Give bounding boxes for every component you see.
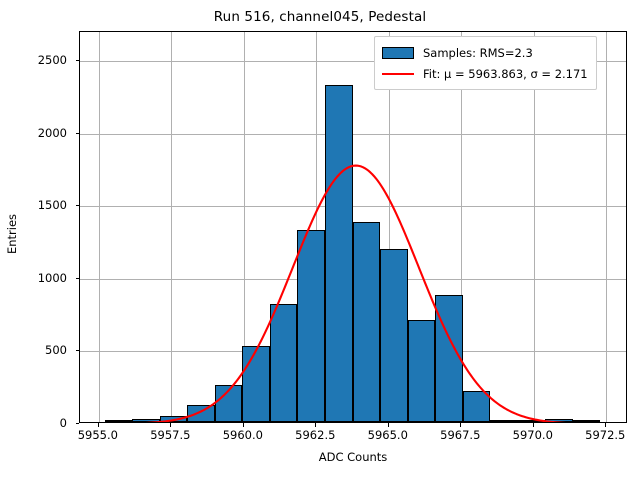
x-tick-mark <box>533 423 534 427</box>
gridline-vertical <box>606 32 607 422</box>
x-tick-label: 5960.0 <box>223 428 263 442</box>
x-tick-label: 5970.0 <box>513 428 553 442</box>
x-tick-mark <box>243 423 244 427</box>
legend-label-fit: Fit: μ = 5963.863, σ = 2.171 <box>423 67 588 81</box>
histogram-bar <box>490 420 518 422</box>
histogram-bar <box>187 405 215 422</box>
histogram-bar <box>297 230 325 422</box>
x-tick-label: 5955.0 <box>78 428 118 442</box>
histogram-bar <box>242 346 270 422</box>
histogram-bar <box>215 385 243 422</box>
histogram-bar <box>545 419 573 422</box>
histogram-bar <box>132 419 160 422</box>
x-tick-label: 5962.5 <box>295 428 335 442</box>
y-tick-mark <box>76 133 80 134</box>
histogram-bar <box>105 420 133 422</box>
legend: Samples: RMS=2.3 Fit: μ = 5963.863, σ = … <box>374 36 597 90</box>
x-tick-label: 5965.0 <box>368 428 408 442</box>
x-axis-label: ADC Counts <box>79 450 627 464</box>
x-tick-label: 5957.5 <box>150 428 190 442</box>
legend-line-icon <box>382 68 414 80</box>
y-axis-label: Entries <box>5 174 19 294</box>
gridline-horizontal <box>80 134 626 135</box>
histogram-bar <box>380 249 408 422</box>
y-tick-label: 0 <box>60 416 74 430</box>
histogram-figure: Run 516, channel045, Pedestal 5955.05957… <box>0 0 640 480</box>
y-tick-label: 1000 <box>38 271 74 285</box>
y-tick-label: 2500 <box>38 53 74 67</box>
histogram-bar <box>435 295 463 422</box>
histogram-bar <box>408 320 436 422</box>
legend-item-samples: Samples: RMS=2.3 <box>382 42 588 63</box>
x-tick-mark <box>170 423 171 427</box>
y-tick-label: 2000 <box>38 126 74 140</box>
x-tick-mark <box>460 423 461 427</box>
x-tick-label: 5967.5 <box>440 428 480 442</box>
legend-label-samples: Samples: RMS=2.3 <box>423 46 533 60</box>
histogram-bar <box>518 420 546 422</box>
y-tick-mark <box>76 60 80 61</box>
y-tick-mark <box>76 350 80 351</box>
gridline-vertical <box>534 32 535 422</box>
x-tick-label: 5972.5 <box>585 428 625 442</box>
legend-item-fit: Fit: μ = 5963.863, σ = 2.171 <box>382 63 588 84</box>
y-tick-mark <box>76 278 80 279</box>
x-tick-mark <box>315 423 316 427</box>
histogram-bar <box>270 304 298 422</box>
histogram-bar <box>325 85 353 422</box>
gridline-vertical <box>99 32 100 422</box>
histogram-bar <box>353 222 381 422</box>
y-tick-mark <box>76 423 80 424</box>
y-tick-label: 500 <box>45 343 74 357</box>
histogram-bar <box>463 391 491 422</box>
gridline-horizontal <box>80 206 626 207</box>
x-tick-mark <box>605 423 606 427</box>
gridline-vertical <box>171 32 172 422</box>
y-tick-label: 1500 <box>38 198 74 212</box>
histogram-bar <box>573 420 601 422</box>
legend-swatch-icon <box>382 47 414 59</box>
y-tick-mark <box>76 205 80 206</box>
chart-title: Run 516, channel045, Pedestal <box>0 9 640 25</box>
histogram-bar <box>160 416 188 422</box>
x-tick-mark <box>388 423 389 427</box>
x-tick-mark <box>98 423 99 427</box>
